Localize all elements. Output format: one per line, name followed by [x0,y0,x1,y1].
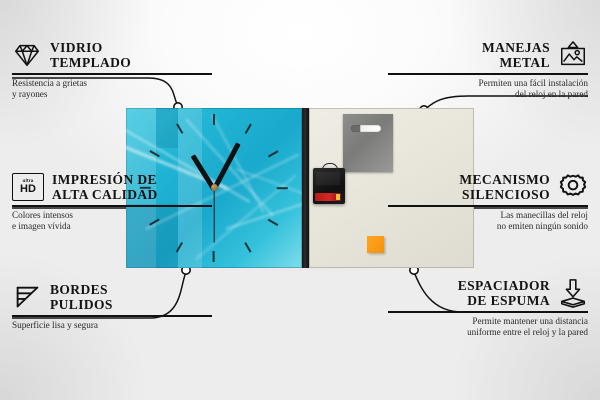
feature-rule [388,205,588,207]
feature-rule [12,315,212,317]
hour-tick [245,124,252,134]
wall-hanging-frame-icon [558,40,588,70]
ultra-hd-icon-main: HD [20,184,36,195]
hour-tick [245,242,252,252]
feature-title: IMPRESIÓN DE ALTA CALIDAD [52,172,158,202]
hour-tick [213,251,215,262]
battery [315,193,341,201]
feature-subtitle: Permite mantener una distancia uniforme … [388,316,588,338]
feature-mecanismo-silencioso[interactable]: MECANISMO SILENCIOSO Las manecillas del … [388,172,588,232]
feature-impresion-alta-calidad[interactable]: ultra HD IMPRESIÓN DE ALTA CALIDAD Color… [12,172,212,232]
feature-subtitle: Superficie lisa y segura [12,320,212,331]
feature-rule [388,311,588,313]
feature-bordes-pulidos[interactable]: BORDES PULIDOS Superficie lisa y segura [12,282,212,331]
feature-title: VIDRIO TEMPLADO [50,40,131,70]
foam-spacer-square [367,236,384,253]
feature-title: ESPACIADOR DE ESPUMA [458,278,550,308]
hanger-keyhole-slot [351,125,381,132]
feature-vidrio-templado[interactable]: VIDRIO TEMPLADO Resistencia a grietas y … [12,40,212,100]
hour-tick [268,150,278,157]
second-hand [213,188,214,242]
glass-side-edge [302,108,309,268]
gear-icon [558,172,588,202]
feature-title: BORDES PULIDOS [50,282,113,312]
hour-tick [277,187,288,189]
feature-title: MANEJAS METAL [482,40,550,70]
foam-spacer-arrow-icon [558,278,588,308]
mechanism-hook [322,163,338,172]
feature-subtitle: Colores intensos e imagen vívida [12,210,212,232]
ultra-hd-icon: ultra HD [12,173,44,201]
polished-edges-icon [12,282,42,312]
feature-rule [12,73,212,75]
quartz-mechanism-box [313,168,345,204]
mechanism-label [316,172,340,185]
feature-subtitle: Las manecillas del reloj no emiten ningú… [388,210,588,232]
feature-subtitle: Resistencia a grietas y rayones [12,78,212,100]
hour-tick [268,219,278,226]
hour-tick [213,114,215,125]
feature-rule [12,205,212,207]
diamond-icon [12,40,42,70]
feature-rule [388,73,588,75]
feature-subtitle: Permiten una fácil instalación del reloj… [388,78,588,100]
feature-espaciador-espuma[interactable]: ESPACIADOR DE ESPUMA Permite mantener un… [388,278,588,338]
feature-title: MECANISMO SILENCIOSO [459,172,550,202]
infographic-canvas: VIDRIO TEMPLADO Resistencia a grietas y … [0,0,600,400]
clock-center-pin [211,184,218,191]
metal-hanger-plate [343,114,393,172]
feature-manejas-metal[interactable]: MANEJAS METAL Permiten una fácil instala… [388,40,588,100]
